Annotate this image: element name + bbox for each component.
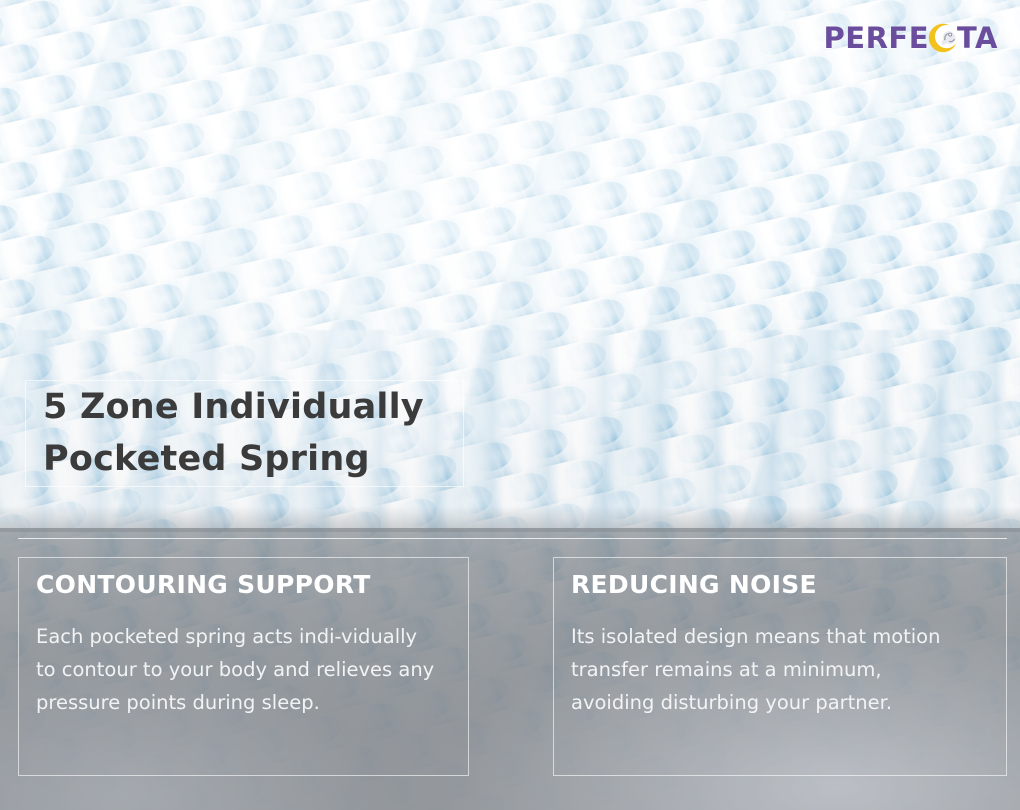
logo-text-left: PERFE — [824, 24, 930, 53]
logo-text-right: TA — [957, 24, 998, 53]
title-line-2: Pocketed Spring — [43, 439, 370, 479]
feature-body: Each pocketed spring acts indi-vidually … — [36, 620, 436, 719]
brand-logo: PERFE TA — [824, 18, 999, 58]
feature-heading: REDUCING NOISE — [571, 570, 817, 600]
title-line-1: 5 Zone Individually — [43, 387, 424, 427]
product-feature-poster: PERFE TA 5 Zone Individually Pocketed Sp… — [0, 0, 1020, 810]
section-divider — [18, 538, 1007, 539]
feature-panel-contouring-support: CONTOURING SUPPORT Each pocketed spring … — [18, 557, 469, 776]
crescent-moon-sleeping-figure-icon — [927, 22, 959, 54]
feature-body: Its isolated design means that motion tr… — [571, 620, 961, 719]
page-title: 5 Zone Individually Pocketed Spring — [43, 381, 503, 485]
feature-panel-reducing-noise: REDUCING NOISE Its isolated design means… — [553, 557, 1007, 776]
feature-heading: CONTOURING SUPPORT — [36, 570, 371, 600]
